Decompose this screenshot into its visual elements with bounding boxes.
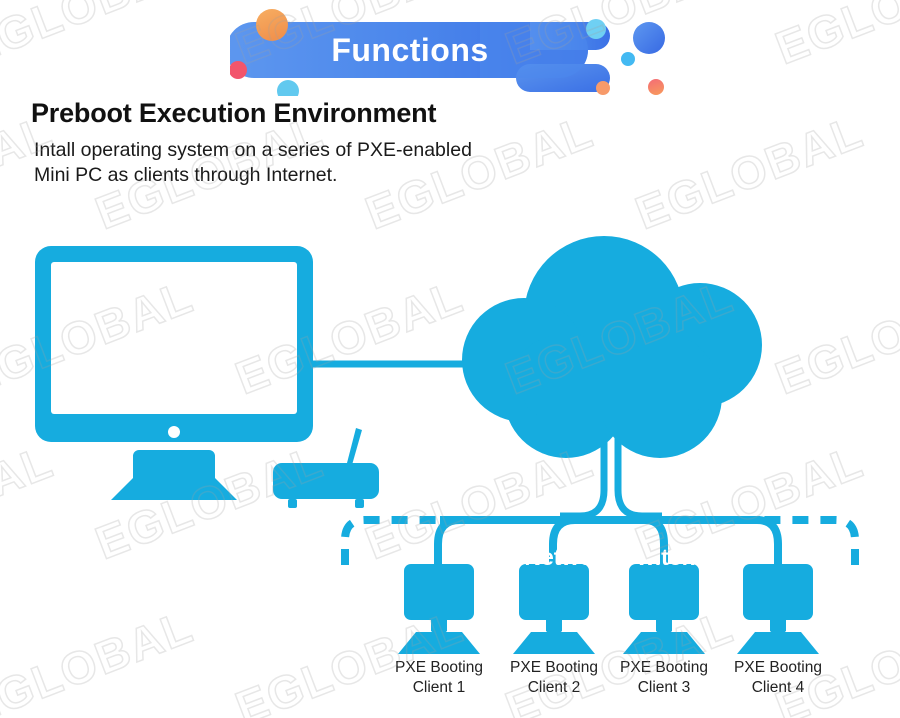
drop-leg-client-3 — [645, 520, 664, 566]
orange-dot-icon — [256, 9, 288, 41]
client-monitor-1-icon — [398, 564, 480, 654]
client-label-1-line1: PXE Booting — [379, 658, 499, 678]
network-diagram: Network Switch PXE Booting Client 1 PXE … — [0, 200, 900, 718]
watermark-text: EGLOBAL — [0, 0, 201, 75]
blue-circle-icon — [633, 22, 665, 54]
client-label-1-line2: Client 1 — [379, 678, 499, 698]
functions-banner: Functions — [230, 4, 670, 96]
small-cyan-dot-icon — [621, 52, 635, 66]
page-root: Functions Preboot Execution Environment … — [0, 0, 900, 718]
heading-block: Preboot Execution Environment Intall ope… — [31, 98, 472, 188]
client-label-4-line2: Client 4 — [718, 678, 838, 698]
client-label-4: PXE Booting Client 4 — [718, 658, 838, 699]
page-subtitle: Intall operating system on a series of P… — [34, 138, 472, 188]
client-label-1: PXE Booting Client 1 — [379, 658, 499, 699]
client-monitor-4-icon — [737, 564, 819, 654]
client-label-2: PXE Booting Client 2 — [494, 658, 614, 699]
client-label-4-line1: PXE Booting — [718, 658, 838, 678]
client-monitor-3-icon — [623, 564, 705, 654]
client-monitor-2-icon — [513, 564, 595, 654]
client-label-2-line1: PXE Booting — [494, 658, 614, 678]
coral-dot-icon — [648, 79, 664, 95]
drop-leg-client-2 — [553, 520, 575, 566]
diagram-graphic — [0, 200, 900, 718]
peach-dot-icon — [596, 81, 610, 95]
client-label-3-line1: PXE Booting — [604, 658, 724, 678]
drop-leg-client-4 — [757, 520, 778, 566]
page-title: Preboot Execution Environment — [31, 98, 472, 129]
cyan-dot-top-icon — [586, 19, 606, 39]
subtitle-line-1: Intall operating system on a series of P… — [34, 138, 472, 163]
client-bus-left-dashed — [345, 520, 470, 565]
cyan-dot-icon — [277, 80, 299, 96]
client-label-3-line2: Client 3 — [604, 678, 724, 698]
client-label-2-line2: Client 2 — [494, 678, 614, 698]
banner-overlay — [480, 22, 588, 78]
server-monitor-icon — [35, 246, 313, 500]
client-label-3: PXE Booting Client 3 — [604, 658, 724, 699]
watermark-text: EGLOBAL — [768, 0, 900, 75]
subtitle-line-2: Mini PC as clients through Internet. — [34, 163, 472, 188]
client-bus-right-dashed — [730, 520, 855, 565]
drop-leg-client-1 — [438, 520, 460, 566]
banner-graphic — [230, 4, 670, 96]
network-switch-cloud — [462, 236, 762, 458]
